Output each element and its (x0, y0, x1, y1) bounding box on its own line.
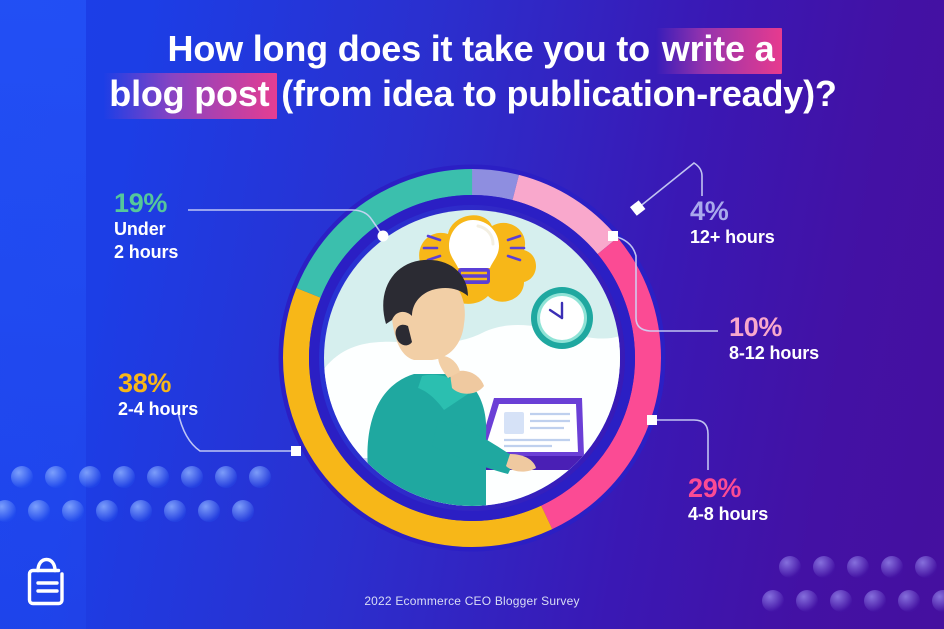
decorative-dot (215, 466, 237, 488)
callout-2-4-hours-label: 2-4 hours (118, 398, 198, 421)
decorative-dot (779, 556, 801, 578)
callout-4-8-hours-percent: 29% (688, 473, 768, 503)
callout-under-2-hours[interactable]: 19% Under 2 hours (114, 188, 178, 264)
callout-12-plus-hours-percent: 4% (690, 196, 775, 226)
callout-4-8-hours-label: 4-8 hours (688, 503, 768, 526)
title-highlight-write-a: write a (660, 26, 777, 71)
decorative-dot (45, 466, 67, 488)
decorative-dot (147, 466, 169, 488)
page-title: How long does it take you to write a blo… (0, 26, 944, 116)
decorative-dot (62, 500, 84, 522)
decorative-dot (96, 500, 118, 522)
decorative-dot (847, 556, 869, 578)
decorative-dot (164, 500, 186, 522)
laptop-screen-block (504, 412, 524, 434)
callout-8-12-hours-label: 8-12 hours (729, 342, 819, 365)
clock-icon (531, 287, 593, 349)
decorative-dot (915, 556, 937, 578)
title-line-1: How long does it take you to write a (0, 26, 944, 71)
decorative-dot (249, 466, 271, 488)
donut-chart (272, 158, 672, 558)
callout-8-12-hours[interactable]: 10% 8-12 hours (729, 312, 819, 365)
infographic-canvas: How long does it take you to write a blo… (0, 0, 944, 629)
callout-2-4-hours[interactable]: 38% 2-4 hours (118, 368, 198, 421)
decorative-dot (881, 556, 903, 578)
title-line-2: blog post (from idea to publication-read… (0, 71, 944, 116)
decorative-dot (813, 556, 835, 578)
decorative-dot (232, 500, 254, 522)
title-highlight-blog-post: blog post (107, 71, 271, 116)
callout-12-plus-hours[interactable]: 4% 12+ hours (690, 196, 775, 249)
callout-under-2-hours-label-line2: 2 hours (114, 241, 178, 264)
decorative-dot (11, 466, 33, 488)
decorative-dot (198, 500, 220, 522)
ecommerce-ceo-bag-logo[interactable] (24, 556, 70, 611)
decorative-dot (113, 466, 135, 488)
decorative-dot (0, 500, 16, 522)
callout-4-8-hours[interactable]: 29% 4-8 hours (688, 473, 768, 526)
shopping-bag-icon (24, 556, 70, 606)
decorative-dot (130, 500, 152, 522)
callout-under-2-hours-percent: 19% (114, 188, 178, 218)
title-line-1-plain: How long does it take you to (168, 28, 660, 69)
title-line-2-plain: (from idea to publication-ready)? (271, 73, 836, 114)
callout-2-4-hours-percent: 38% (118, 368, 198, 398)
decorative-dot (181, 466, 203, 488)
decorative-dot (79, 466, 101, 488)
decorative-dot-grid-bottom-left (0, 466, 283, 522)
decorative-dot (28, 500, 50, 522)
callout-12-plus-hours-label: 12+ hours (690, 226, 775, 249)
callout-under-2-hours-label-line1: Under (114, 218, 178, 241)
source-caption: 2022 Ecommerce CEO Blogger Survey (0, 594, 944, 608)
callout-8-12-hours-percent: 10% (729, 312, 819, 342)
